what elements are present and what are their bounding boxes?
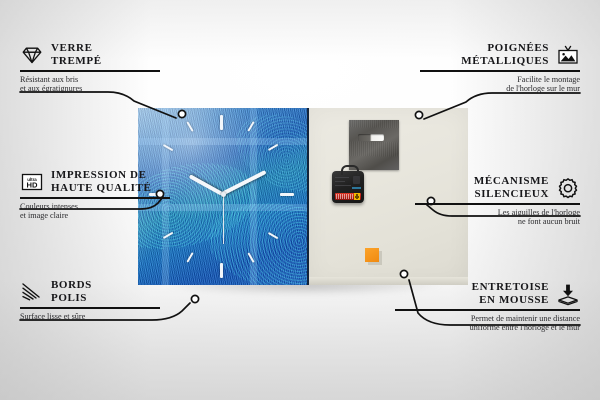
foam-spacer-icon [556, 282, 580, 306]
polished-edge-icon [20, 280, 44, 304]
callout-title-line2: SILENCIEUX [475, 188, 549, 200]
callout-sub-line1: Surface lisse et sûre [20, 312, 85, 321]
picture-hanger-icon [556, 43, 580, 67]
clock-second-hand [223, 192, 225, 244]
callout-title-line2: MÉTALLIQUES [461, 55, 549, 67]
callout-divider [420, 70, 580, 72]
foam-spacer-pad [365, 248, 379, 262]
callout-title-line1: IMPRESSION DE [51, 169, 147, 181]
ultra-hd-icon: ultra HD [20, 170, 44, 194]
battery [335, 193, 361, 200]
clock-center-hub [221, 192, 226, 197]
callout-sub-line1: Couleurs intenses [20, 202, 78, 211]
diamond-icon [20, 43, 44, 67]
callout-title-line1: ENTRETOISE [472, 281, 549, 293]
callout-sub-line2: uniforme entre l'horloge et le mur [470, 323, 580, 332]
mechanism-hanging-loop [341, 165, 359, 175]
callout-title-line2: TREMPÉ [51, 55, 102, 67]
callout-divider [395, 309, 580, 311]
metal-hanger-plate [349, 120, 399, 170]
callout-divider [20, 197, 170, 199]
gear-icon [556, 176, 580, 200]
callout-impression-hd[interactable]: ultra HD IMPRESSION DE HAUTE QUALITÉ Cou… [20, 169, 170, 221]
clock-mechanism [332, 171, 364, 203]
callout-entretoise-mousse[interactable]: ENTRETOISE EN MOUSSE Permet de maintenir… [395, 281, 580, 333]
callout-sub-line1: Résistant aux bris [20, 75, 78, 84]
callout-divider [20, 307, 160, 309]
callout-title-line1: BORDS [51, 279, 92, 291]
callout-divider [415, 203, 580, 205]
callout-sub-line1: Permet de maintenir une distance [471, 314, 580, 323]
callout-verre-trempe[interactable]: VERRE TREMPÉ Résistant aux bris et aux é… [20, 42, 160, 94]
callout-title-line2: EN MOUSSE [479, 294, 549, 306]
callout-poignees-metalliques[interactable]: POIGNÉES MÉTALLIQUES Facilite le montage… [420, 42, 580, 94]
callout-sub-line1: Les aiguilles de l'horloge [498, 208, 580, 217]
callout-title-line1: MÉCANISME [474, 175, 549, 187]
callout-title-line2: POLIS [51, 292, 87, 304]
callout-title-line1: POIGNÉES [487, 42, 549, 54]
hanger-keyhole-slot [358, 134, 384, 141]
callout-sub-line1: Facilite le montage [517, 75, 580, 84]
callout-title-line1: VERRE [51, 42, 93, 54]
callout-mecanisme-silencieux[interactable]: MÉCANISME SILENCIEUX Les aiguilles de l'… [415, 175, 580, 227]
callout-sub-line2: ne font aucun bruit [518, 217, 580, 226]
callout-divider [20, 70, 160, 72]
svg-text:HD: HD [27, 180, 38, 189]
callout-sub-line2: et aux égratignures [20, 84, 82, 93]
callout-title-line2: HAUTE QUALITÉ [51, 182, 151, 194]
callout-sub-line2: de l'horloge sur le mur [506, 84, 580, 93]
callout-bords-polis[interactable]: BORDS POLIS Surface lisse et sûre [20, 279, 160, 321]
callout-sub-line2: et image claire [20, 211, 68, 220]
infographic-canvas: VERRE TREMPÉ Résistant aux bris et aux é… [0, 0, 600, 400]
